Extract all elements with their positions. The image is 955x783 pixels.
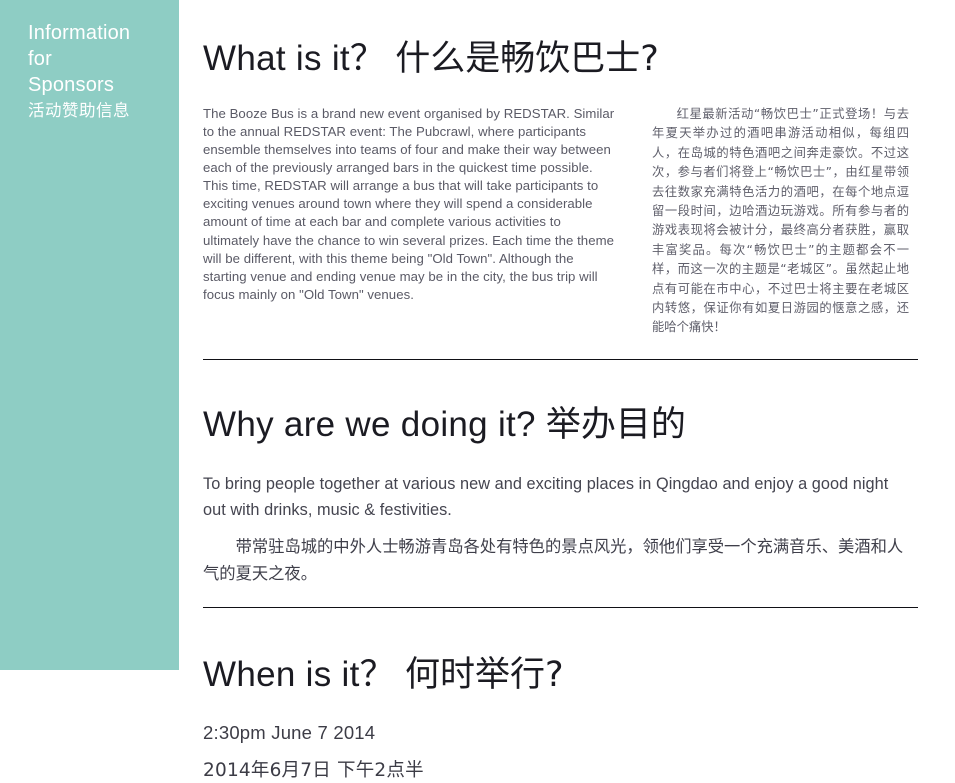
- section-when-heading-en: When is it？: [203, 655, 395, 694]
- sidebar-title: Information for Sponsors: [28, 20, 165, 98]
- section-why-body-cn: 带常驻岛城的中外人士畅游青岛各处有特色的景点风光，领他们享受一个充满音乐、美酒和…: [203, 533, 910, 587]
- section-when-heading-cn: 何时举行?: [405, 655, 564, 695]
- sidebar-subtitle: 活动赞助信息: [28, 99, 165, 123]
- section-what-body-cn: 红星最新活动“畅饮巴士”正式登场！与去年夏天举办过的酒吧串游活动相似，每组四人，…: [652, 105, 909, 338]
- section-why-body-en: To bring people together at various new …: [203, 471, 909, 523]
- sidebar-title-line-1: Information: [28, 20, 165, 46]
- section-what-is-it: What is it？ 什么是畅饮巴士? The Booze Bus is a …: [203, 0, 918, 360]
- section-why-heading-cn: 举办目的: [546, 405, 686, 445]
- section-why-heading-en: Why are we doing it?: [203, 405, 536, 444]
- sidebar: Information for Sponsors 活动赞助信息: [0, 0, 179, 670]
- section-what-body-en: The Booze Bus is a brand new event organ…: [203, 105, 619, 304]
- content-area: What is it？ 什么是畅饮巴士? The Booze Bus is a …: [179, 0, 955, 670]
- section-why-heading: Why are we doing it? 举办目的: [203, 403, 918, 447]
- page-root: Information for Sponsors 活动赞助信息 What is …: [0, 0, 955, 670]
- sidebar-title-line-2: for: [28, 46, 165, 72]
- section-what-heading: What is it？ 什么是畅饮巴士?: [203, 37, 918, 81]
- section-when-heading: When is it？ 何时举行?: [203, 653, 918, 697]
- section-why-are-we-doing-it: Why are we doing it? 举办目的 To bring peopl…: [203, 360, 918, 608]
- section-what-heading-cn: 什么是畅饮巴士?: [395, 39, 659, 79]
- section-what-columns: The Booze Bus is a brand new event organ…: [203, 105, 918, 338]
- event-time-en: 2:30pm June 7 2014: [203, 721, 918, 745]
- sidebar-title-line-3: Sponsors: [28, 72, 165, 98]
- section-what-heading-en: What is it？: [203, 39, 385, 78]
- event-time-cn: 2014年6月7日 下午2点半: [203, 759, 918, 783]
- section-when-is-it: When is it？ 何时举行? 2:30pm June 7 2014 201…: [203, 608, 918, 783]
